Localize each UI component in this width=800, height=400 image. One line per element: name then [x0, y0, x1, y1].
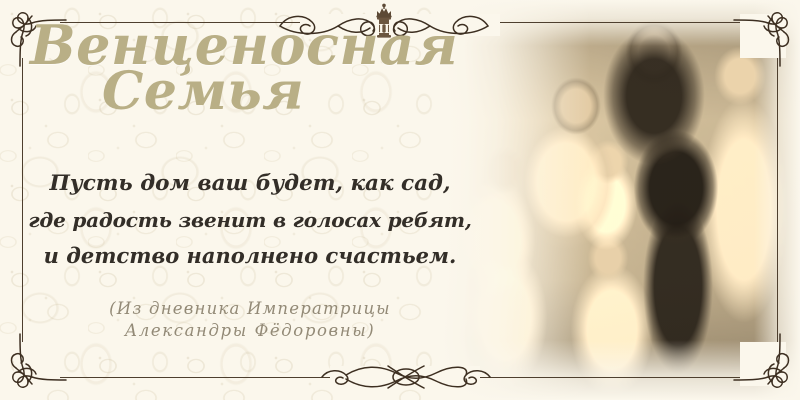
- quote-line-2: где радость звенит в голосах ребят,: [24, 202, 476, 238]
- quote-block: Пусть дом ваш будет, как сад, где радост…: [24, 166, 476, 274]
- quote-attribution: (Из дневника Императрицы Александры Фёдо…: [24, 298, 476, 342]
- frame-gap-bottom: [330, 366, 480, 386]
- photo-fade-right: [754, 0, 800, 400]
- family-photograph: [440, 0, 800, 400]
- page-title: Венценосная Семья: [16, 18, 456, 158]
- postcard-root: II: [0, 0, 800, 400]
- frame-gap-top-right: [740, 14, 786, 58]
- attribution-line-2: Александры Фёдоровны): [24, 320, 476, 342]
- quote-line-3: и детство наполнено счастьем.: [24, 238, 476, 274]
- quote-line-1: Пусть дом ваш будет, как сад,: [24, 166, 476, 202]
- frame-gap-bottom-left: [14, 342, 60, 386]
- frame-gap-bottom-right: [740, 342, 786, 386]
- attribution-line-1: (Из дневника Императрицы: [24, 298, 476, 320]
